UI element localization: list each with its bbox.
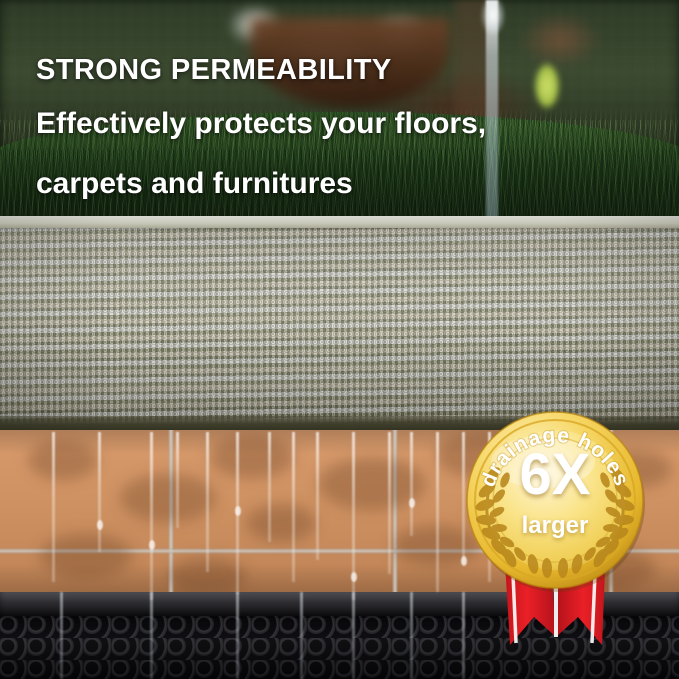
water-drip — [98, 432, 101, 552]
water-drip — [206, 432, 209, 572]
water-drip — [436, 432, 439, 592]
leaf-shadow — [210, 436, 294, 478]
mat-water-drip — [150, 592, 153, 679]
headline: STRONG PERMEABILITY — [36, 56, 506, 85]
subline-2: carpets and furnitures — [36, 169, 506, 199]
mat-water-drip — [300, 592, 303, 679]
permeable-woven-backing — [0, 216, 679, 434]
water-drip — [410, 432, 413, 536]
water-drip — [292, 432, 295, 582]
drainage-badge-seal: drainage holes — [465, 410, 645, 592]
water-droplet — [351, 572, 357, 582]
marketing-copy-block: STRONG PERMEABILITY Effectively protects… — [36, 56, 506, 229]
water-droplet — [149, 540, 155, 550]
water-splash-top — [476, 0, 510, 52]
tile-grout-line-vertical — [392, 430, 398, 602]
water-droplet — [409, 498, 415, 508]
mat-water-drip — [60, 592, 63, 679]
mat-water-drip — [410, 592, 413, 679]
mat-water-drip — [462, 592, 465, 679]
water-drip — [52, 432, 55, 582]
water-drip — [150, 432, 153, 600]
mat-water-drip — [352, 592, 355, 679]
leaf-shadow — [120, 474, 216, 522]
water-drip — [268, 432, 271, 542]
water-drip — [316, 432, 319, 560]
leaf-shadow — [28, 440, 98, 480]
product-image-canvas: STRONG PERMEABILITY Effectively protects… — [0, 0, 679, 679]
water-droplet — [97, 520, 103, 530]
water-drip — [388, 432, 391, 574]
water-droplet — [235, 506, 241, 516]
mesh-shading — [0, 216, 679, 434]
water-drip — [176, 432, 179, 528]
mat-water-drip — [236, 592, 239, 679]
subline-1: Effectively protects your floors, — [36, 109, 506, 139]
leaf-shadow — [246, 504, 316, 542]
